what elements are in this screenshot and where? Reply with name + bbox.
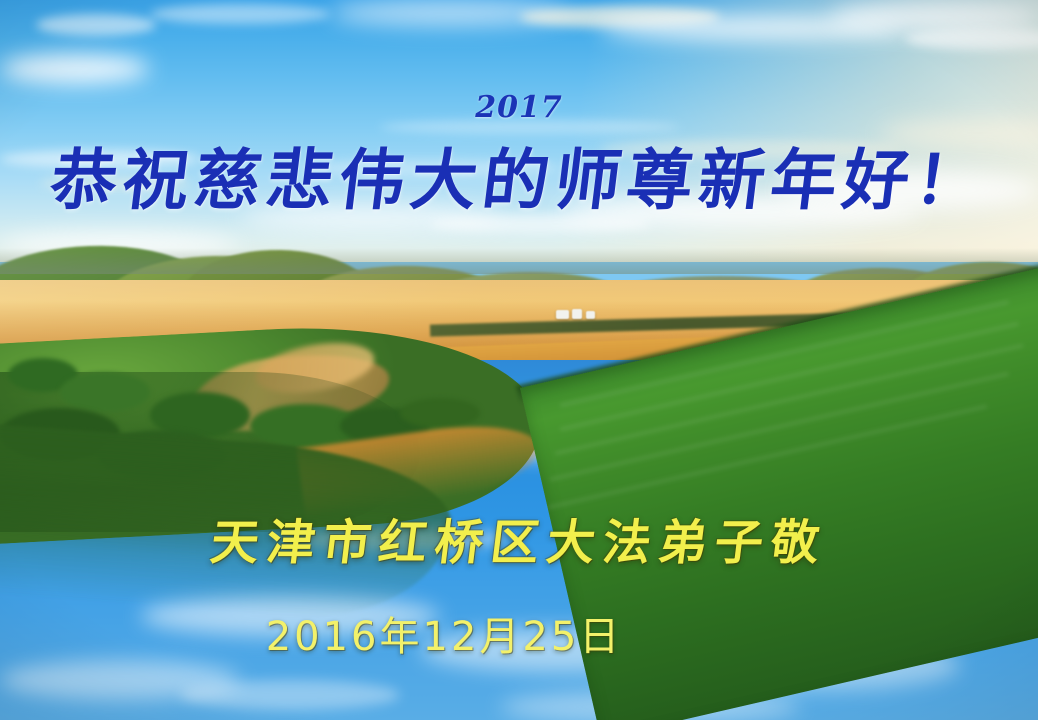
white-building [572,309,582,319]
horizon-band [0,248,1038,274]
greeting-headline: 恭祝慈悲伟大的师尊新年好！ [0,142,1038,220]
white-building [586,311,595,319]
greeting-card: 2017 恭祝慈悲伟大的师尊新年好！ 天津市红桥区大法弟子敬 2016年12月2… [0,0,1038,720]
sender-signature: 天津市红桥区大法弟子敬 [0,514,1038,572]
year-label: 2017 [0,90,1038,125]
cloud [0,54,150,84]
cloud [150,4,330,24]
card-date: 2016年12月25日 [0,604,1038,662]
cloud [36,14,156,36]
shrub [400,398,480,428]
white-building [556,310,569,319]
water-cloud [180,680,400,710]
shrub [60,372,150,412]
